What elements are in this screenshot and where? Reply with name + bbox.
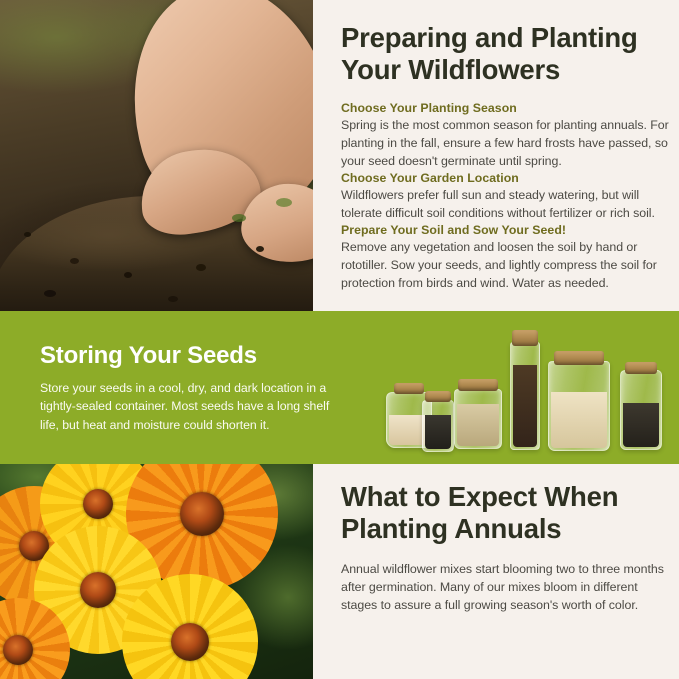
planting-body-1: Spring is the most common season for pla… [341,117,671,171]
planting-body-2: Wildflowers prefer full sun and steady w… [341,187,671,223]
planting-title: Preparing and Planting Your Wildflowers [341,22,671,86]
planting-block-1: Choose Your Planting Season Spring is th… [341,101,671,171]
flower-core [3,635,33,665]
soil-speck [256,246,264,252]
expect-section: What to Expect When Planting Annuals Ann… [0,464,679,679]
planting-body-3: Remove any vegetation and loosen the soi… [341,239,671,293]
flower-core [80,572,116,608]
flower-photo [0,464,313,679]
seed-jar [422,390,454,452]
soil-speck [196,264,206,271]
cork-lid-icon [394,383,424,394]
cork-lid-icon [425,391,451,402]
planting-text-column: Preparing and Planting Your Wildflowers … [327,0,679,311]
planting-block-2: Choose Your Garden Location Wildflowers … [341,171,671,223]
jar-glass [454,389,502,449]
jar-glass [510,342,540,450]
jar-contents [457,404,499,446]
expect-title: What to Expect When Planting Annuals [341,481,669,545]
infographic-page: Preparing and Planting Your Wildflowers … [0,0,679,679]
expect-text-column: What to Expect When Planting Annuals Ann… [327,464,679,679]
sprout-speck [232,214,246,222]
soil-planting-photo [0,0,313,311]
flower-core [180,492,224,536]
soil-speck [44,290,56,297]
storing-body: Store your seeds in a cool, dry, and dar… [40,379,340,434]
seed-jar [620,358,662,450]
jar-glass [422,400,454,452]
planting-block-3: Prepare Your Soil and Sow Your Seed! Rem… [341,223,671,293]
flower-core [83,489,113,519]
storing-title: Storing Your Seeds [40,342,257,370]
seed-jar [454,377,502,449]
planting-subheading-3: Prepare Your Soil and Sow Your Seed! [341,223,671,237]
jar-contents [551,392,607,448]
jar-glass [548,361,610,451]
planting-subheading-1: Choose Your Planting Season [341,101,671,115]
cork-lid-icon [458,379,498,391]
jar-contents [623,403,659,447]
cork-lid-icon [625,362,657,374]
jar-contents [425,415,451,449]
cork-lid-icon [554,351,604,365]
planting-section: Preparing and Planting Your Wildflowers … [0,0,679,311]
soil-speck [70,258,79,264]
jar-contents [513,365,537,447]
expect-body: Annual wildflower mixes start blooming t… [341,561,669,615]
soil-speck [168,296,178,302]
soil-speck [24,232,31,237]
seed-jar [510,328,540,450]
seed-jars-photo [382,324,662,454]
jar-glass [620,370,662,450]
flower-core [171,623,209,661]
planting-subheading-2: Choose Your Garden Location [341,171,671,185]
seed-jar [548,347,610,451]
cork-lid-icon [512,330,538,346]
sprout-speck [276,198,292,207]
soil-speck [124,272,132,278]
